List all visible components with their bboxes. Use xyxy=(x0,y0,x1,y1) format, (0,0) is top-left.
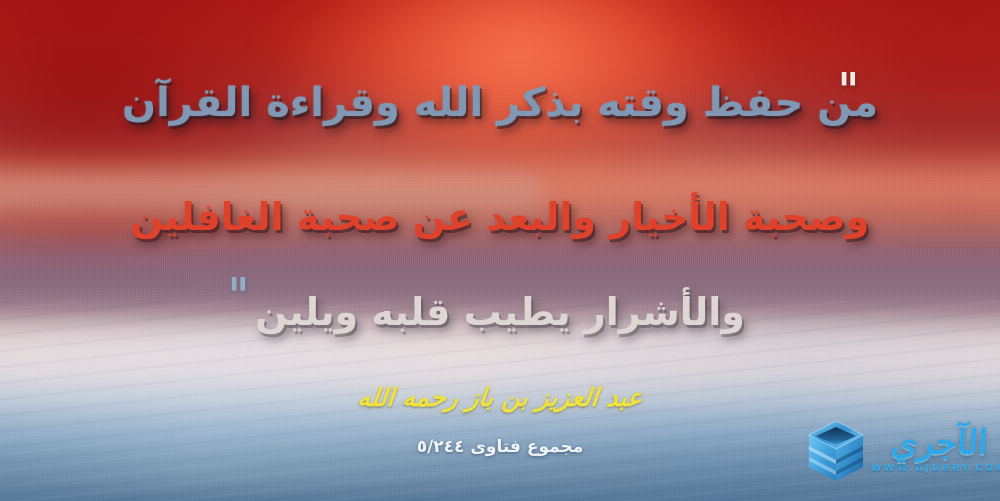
brand-website-url[interactable]: WWW.AJURRY.COM xyxy=(871,463,1000,474)
quote-poster: " من حفظ وقته بذكر الله وقراءة القرآن وص… xyxy=(0,0,1000,501)
brand-watermark[interactable]: الآجري WWW.AJURRY.COM xyxy=(805,413,990,491)
closing-quote-mark: " xyxy=(228,272,251,322)
quote-line-3: والأشرار يطيب قلبه ويلين xyxy=(0,293,1000,331)
stacked-cube-icon xyxy=(805,419,867,485)
brand-name: الآجري xyxy=(890,426,989,460)
quote-line-1: من حفظ وقته بذكر الله وقراءة القرآن xyxy=(0,83,1000,123)
quote-line-2: وصحبة الأخيار والبعد عن صحبة الغافلين xyxy=(0,198,1000,236)
author-signature: عبد العزيز بن باز رحمه الله xyxy=(0,383,1000,412)
brand-text-group: الآجري WWW.AJURRY.COM xyxy=(871,426,1000,478)
